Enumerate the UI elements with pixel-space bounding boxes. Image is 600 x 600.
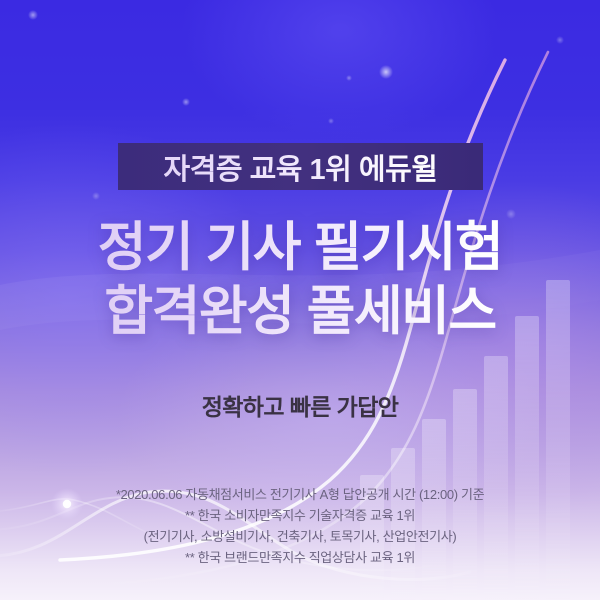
footnote-line: (전기기사, 소방설비기사, 건축기사, 토목기사, 산업안전기사) [0,526,600,547]
headline-line-2: 합격완성 풀세비스 [0,280,600,344]
headline-badge: 자격증 교육 1위 에듀윌 [118,143,483,190]
promo-banner: 자격증 교육 1위 에듀윌 정기 기사 필기시험 합격완성 풀세비스 정확하고 … [0,0,600,600]
headline-line-1: 정기 기사 필기시험 [0,216,600,280]
subtitle: 정확하고 빠른 가답안 [0,388,600,422]
footnote-line: ** 한국 소비자만족지수 기술자격증 교육 1위 [0,505,600,526]
headline-block: 정기 기사 필기시험 합격완성 풀세비스 [0,216,600,344]
footnote-block: *2020.06.06 자동채점서비스 전기기사 A형 답안공개 시간 (12:… [0,484,600,568]
footnote-line: ** 한국 브랜드만족지수 직업상담사 교육 1위 [0,547,600,568]
footnote-line: *2020.06.06 자동채점서비스 전기기사 A형 답안공개 시간 (12:… [0,484,600,505]
glow-top [180,0,500,140]
badge-label: 자격증 교육 1위 에듀윌 [164,146,438,188]
